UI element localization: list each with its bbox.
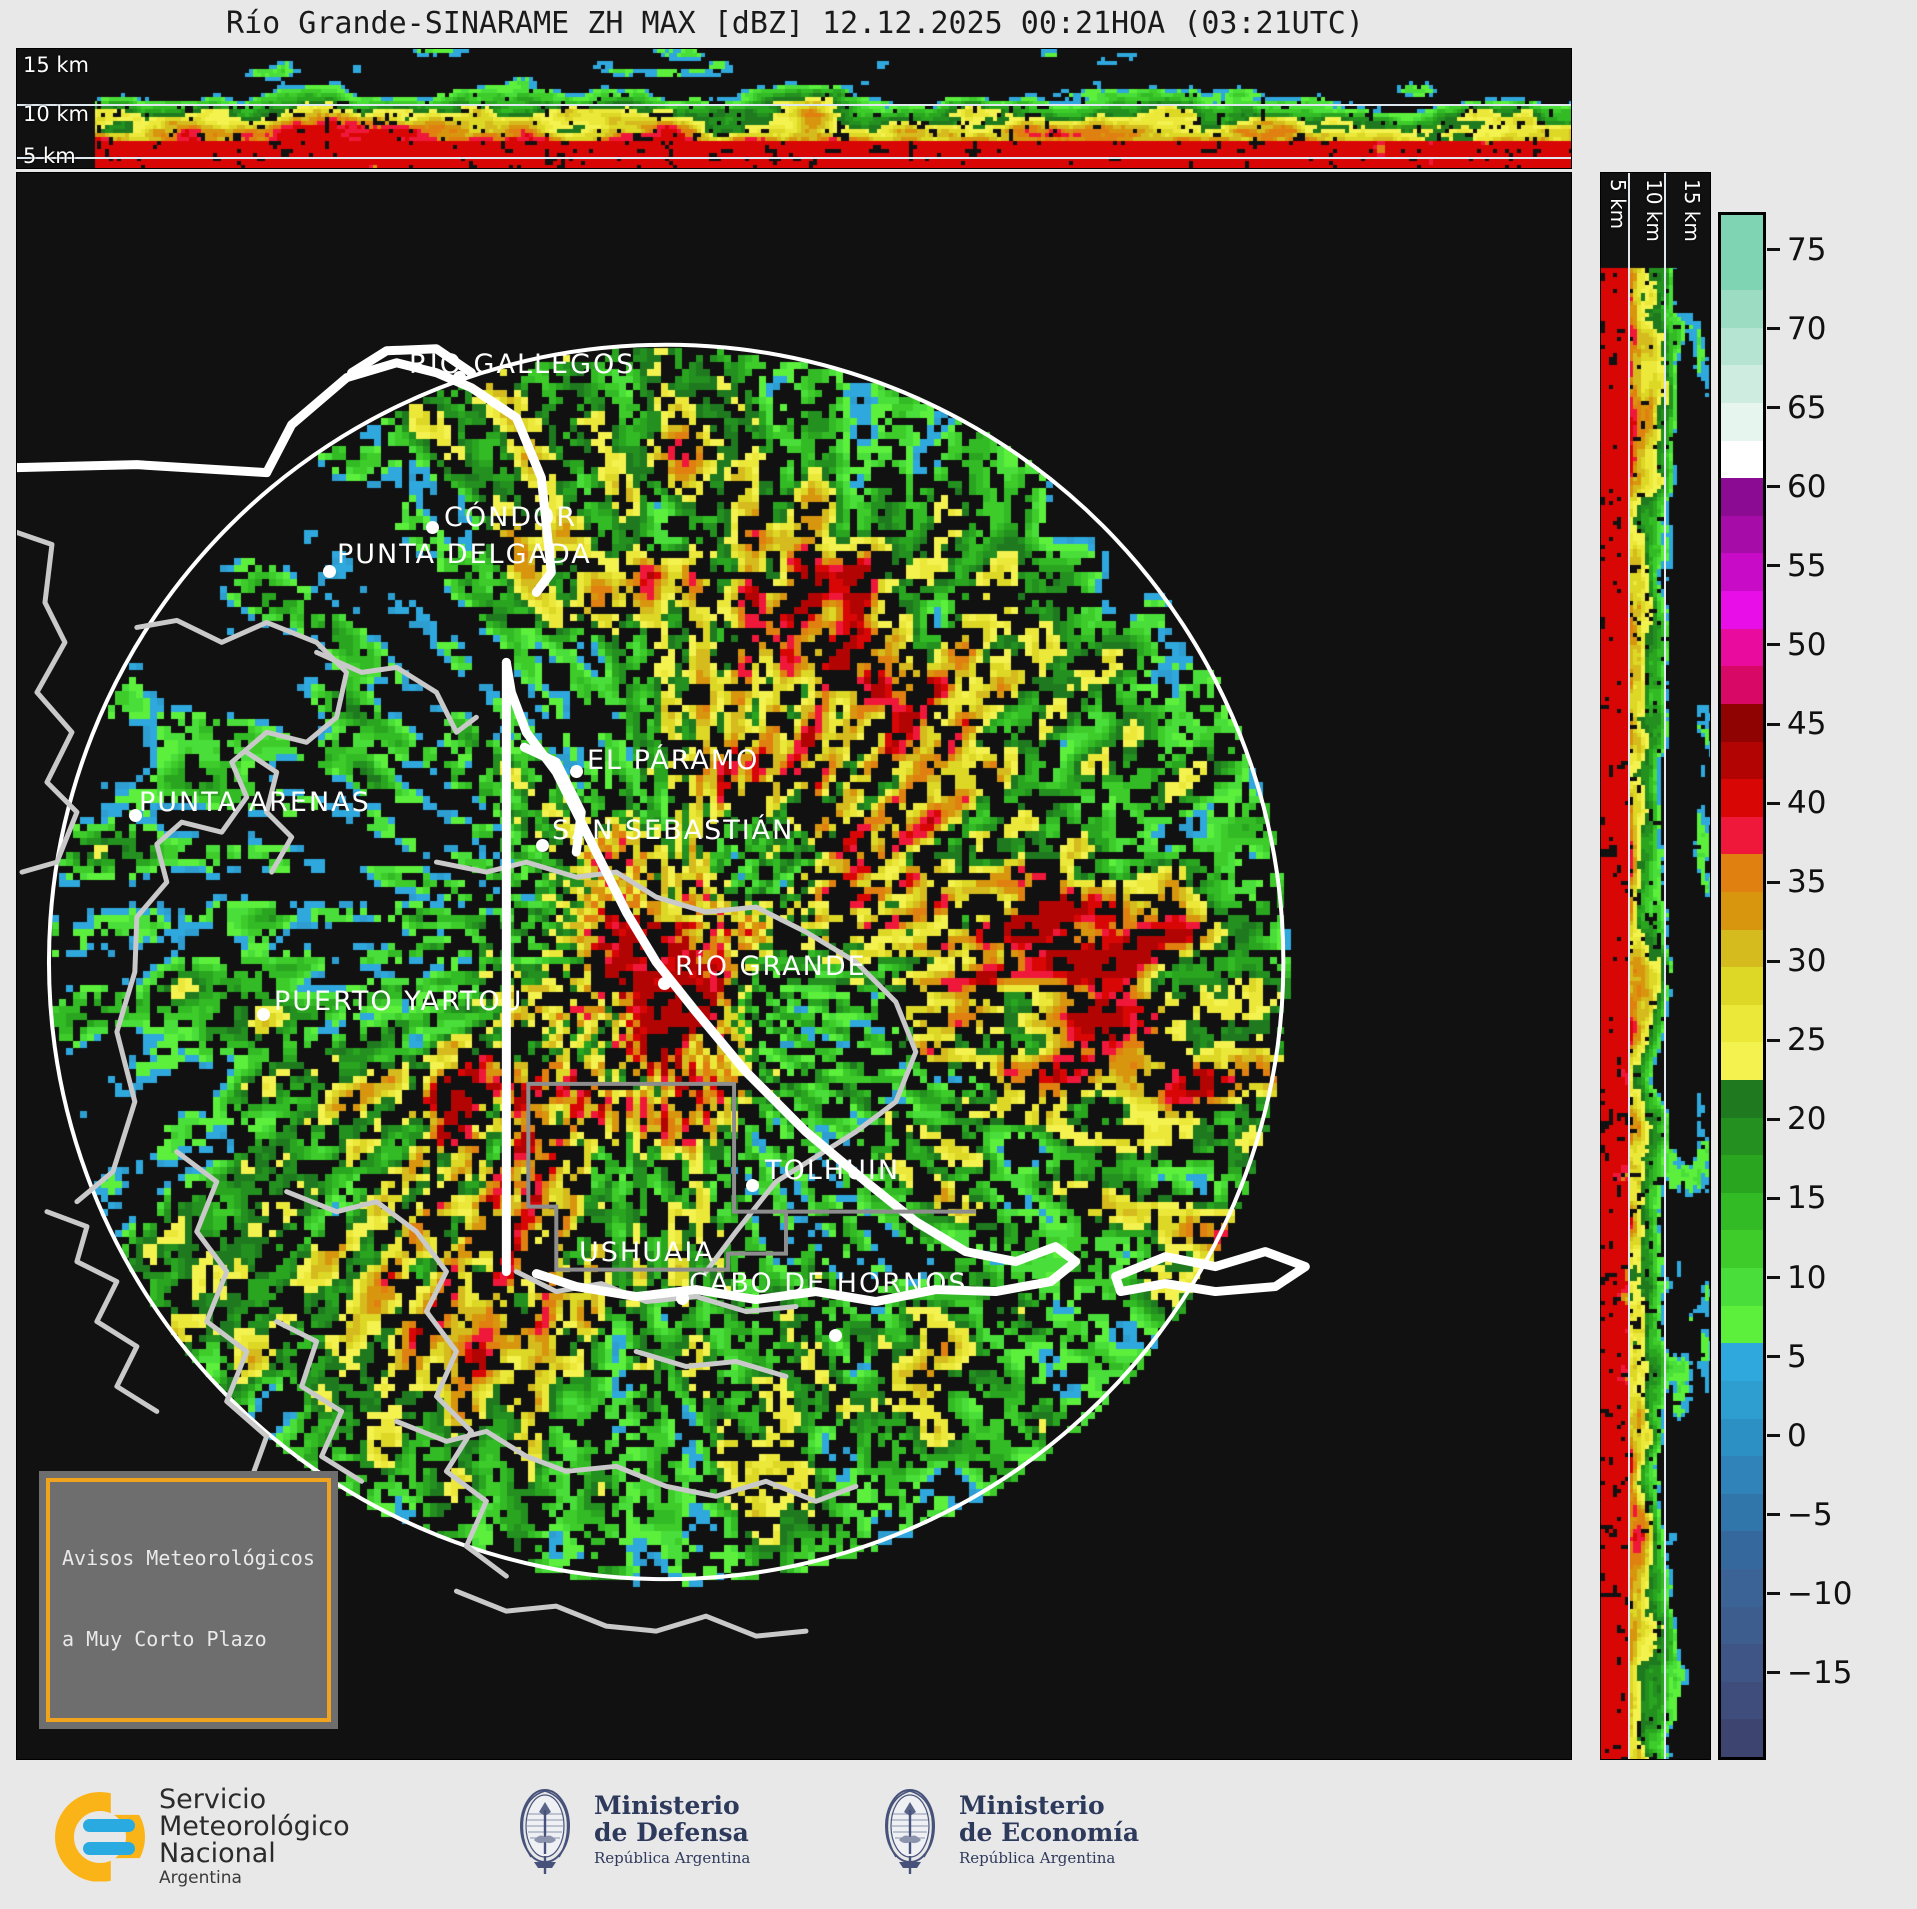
smn-wave-icon-1 [83, 1819, 135, 1832]
smn-line-3: Nacional [159, 1840, 350, 1867]
colorbar-segment [1721, 1419, 1763, 1457]
warning-legend-box[interactable]: Avisos Meteorológicos a Muy Corto Plazo [39, 1471, 338, 1729]
colorbar-tick-dash [1767, 1671, 1780, 1674]
colorbar-tick-dash [1767, 406, 1780, 409]
colorbar-segment [1721, 1456, 1763, 1494]
colorbar-tick: 40 [1767, 785, 1826, 821]
colorbar-tick: 50 [1767, 627, 1826, 663]
colorbar-tick: −10 [1767, 1576, 1852, 1612]
ministry-economia-text: Ministerio de Economía República Argenti… [959, 1792, 1139, 1866]
ministry-economia-line-1: Ministerio [959, 1792, 1139, 1819]
city-dot-puerto-yartou [257, 1008, 270, 1021]
colorbar-tick: 15 [1767, 1180, 1826, 1216]
colorbar-segment [1721, 1644, 1763, 1682]
smn-line-1: Servicio [159, 1786, 350, 1813]
colorbar-tick-label: −5 [1787, 1497, 1833, 1533]
colorbar-tick-label: 70 [1787, 311, 1826, 347]
city-dot-tolhuin [746, 1179, 759, 1192]
colorbar-segment [1721, 1531, 1763, 1569]
colorbar-segment [1721, 817, 1763, 855]
smn-line-4: Argentina [159, 1870, 350, 1887]
colorbar-tick-label: 25 [1787, 1022, 1826, 1058]
right-cross-section-panel: 5 km 10 km 15 km [1600, 172, 1711, 1760]
colorbar-tick-label: 75 [1787, 232, 1826, 268]
argentina-coat-of-arms-icon [510, 1782, 580, 1876]
colorbar-segment [1721, 441, 1763, 479]
colorbar-segment [1721, 553, 1763, 591]
colorbar-tick-dash [1767, 248, 1780, 251]
argentina-coat-of-arms-icon-2 [875, 1782, 945, 1876]
colorbar-segment [1721, 1607, 1763, 1645]
top-cross-section-canvas [17, 49, 1572, 169]
colorbar-segment [1721, 253, 1763, 291]
colorbar-segment [1721, 854, 1763, 892]
footer: Servicio Meteorológico Nacional Argentin… [0, 1772, 1917, 1909]
colorbar-tick-labels: 757065605550454035302520151050−5−10−15 [1767, 212, 1907, 1760]
colorbar-segment [1721, 1118, 1763, 1156]
smn-line-2: Meteorológico [159, 1813, 350, 1840]
colorbar-tick-dash [1767, 485, 1780, 488]
ministry-economia-logo: Ministerio de Economía República Argenti… [875, 1782, 1139, 1876]
colorbar-segment [1721, 478, 1763, 516]
colorbar-tick: 20 [1767, 1101, 1826, 1137]
top-height-label-5km: 5 km [23, 144, 76, 168]
colorbar-segment [1721, 967, 1763, 1005]
colorbar-tick-dash [1767, 1355, 1780, 1358]
colorbar-segment [1721, 1719, 1763, 1757]
colorbar-tick-dash [1767, 327, 1780, 330]
colorbar-tick-dash [1767, 1276, 1780, 1279]
colorbar-tick-dash [1767, 1039, 1780, 1042]
colorbar-tick-dash [1767, 802, 1780, 805]
right-height-label-5km: 5 km [1606, 179, 1630, 229]
colorbar-segment [1721, 1080, 1763, 1118]
colorbar-segment [1721, 1494, 1763, 1532]
colorbar-segment [1721, 1569, 1763, 1607]
colorbar-tick-label: 65 [1787, 390, 1826, 426]
colorbar-segment [1721, 516, 1763, 554]
ministry-defensa-logo: Ministerio de Defensa República Argentin… [510, 1782, 750, 1876]
colorbar-segment [1721, 403, 1763, 441]
colorbar-segment [1721, 742, 1763, 780]
colorbar-segment [1721, 1306, 1763, 1344]
colorbar-tick-label: 50 [1787, 627, 1826, 663]
colorbar-segment [1721, 591, 1763, 629]
smn-wave-icon-2 [83, 1842, 135, 1855]
colorbar-tick: 70 [1767, 311, 1826, 347]
colorbar-segment [1721, 1682, 1763, 1720]
colorbar-tick: 55 [1767, 548, 1826, 584]
colorbar-segment [1721, 930, 1763, 968]
colorbar-segment [1721, 666, 1763, 704]
colorbar-tick-label: 30 [1787, 943, 1826, 979]
colorbar-tick-label: 15 [1787, 1180, 1826, 1216]
colorbar-tick-dash [1767, 643, 1780, 646]
colorbar-tick-dash [1767, 1513, 1780, 1516]
colorbar-segment [1721, 1155, 1763, 1193]
colorbar-segment [1721, 328, 1763, 366]
colorbar-segment [1721, 1268, 1763, 1306]
city-dot-punta-arenas [129, 809, 142, 822]
colorbar-segment [1721, 365, 1763, 403]
colorbar-tick: −15 [1767, 1655, 1852, 1691]
colorbar-segment [1721, 215, 1763, 253]
top-height-label-15km: 15 km [23, 53, 89, 77]
colorbar-segment [1721, 704, 1763, 742]
colorbar-tick: 60 [1767, 469, 1826, 505]
colorbar-tick-dash [1767, 1118, 1780, 1121]
city-dot-rio-gallegos [453, 371, 466, 384]
colorbar-tick: 5 [1767, 1339, 1807, 1375]
colorbar-tick-label: 40 [1787, 785, 1826, 821]
colorbar [1718, 212, 1766, 1760]
city-dot-el-paramo [570, 765, 583, 778]
colorbar-tick-dash [1767, 1434, 1780, 1437]
city-dot-cabo-de-hornos [829, 1329, 842, 1342]
colorbar-tick-label: 0 [1787, 1418, 1807, 1454]
colorbar-tick: 25 [1767, 1022, 1826, 1058]
smn-logo-text: Servicio Meteorológico Nacional Argentin… [159, 1786, 350, 1887]
warning-legend-line2: a Muy Corto Plazo [62, 1626, 315, 1653]
colorbar-segment [1721, 1042, 1763, 1080]
ministry-defensa-line-1: Ministerio [594, 1792, 750, 1819]
colorbar-tick-label: −15 [1787, 1655, 1852, 1691]
colorbar-tick: 65 [1767, 390, 1826, 426]
top-gridline-5km [17, 157, 1571, 159]
top-height-label-10km: 10 km [23, 102, 89, 126]
colorbar-tick-label: 10 [1787, 1260, 1826, 1296]
right-height-label-10km: 10 km [1642, 179, 1666, 242]
right-gridline-5km [1628, 173, 1630, 1759]
right-height-label-15km: 15 km [1680, 179, 1704, 242]
page-title: Río Grande-SINARAME ZH MAX [dBZ] 12.12.2… [0, 6, 1590, 41]
colorbar-segment [1721, 1230, 1763, 1268]
colorbar-tick-dash [1767, 564, 1780, 567]
colorbar-tick-dash [1767, 723, 1780, 726]
colorbar-segment [1721, 1343, 1763, 1381]
city-dot-ushuaia [676, 1292, 689, 1305]
colorbar-segment [1721, 892, 1763, 930]
colorbar-tick-label: −10 [1787, 1576, 1852, 1612]
colorbar-segment [1721, 1381, 1763, 1419]
ministry-defensa-line-3: República Argentina [594, 1850, 750, 1866]
smn-ring-icon [55, 1792, 145, 1882]
smn-logo-icon [55, 1792, 145, 1882]
colorbar-tick-dash [1767, 960, 1780, 963]
ministry-economia-line-2: de Economía [959, 1819, 1139, 1846]
colorbar-gradient [1721, 215, 1763, 1757]
ministry-economia-line-3: República Argentina [959, 1850, 1139, 1866]
colorbar-tick: 30 [1767, 943, 1826, 979]
colorbar-tick-label: 45 [1787, 706, 1826, 742]
top-gridline-10km [17, 104, 1571, 106]
colorbar-segment [1721, 779, 1763, 817]
colorbar-tick: −5 [1767, 1497, 1833, 1533]
colorbar-tick-label: 55 [1787, 548, 1826, 584]
colorbar-tick-label: 20 [1787, 1101, 1826, 1137]
ministry-defensa-text: Ministerio de Defensa República Argentin… [594, 1792, 750, 1866]
colorbar-tick-dash [1767, 1197, 1780, 1200]
colorbar-tick-dash [1767, 881, 1780, 884]
colorbar-segment [1721, 1193, 1763, 1231]
colorbar-segment [1721, 290, 1763, 328]
warning-legend-inner: Avisos Meteorológicos a Muy Corto Plazo [46, 1478, 331, 1722]
colorbar-tick-label: 5 [1787, 1339, 1807, 1375]
city-dot-condor [426, 521, 439, 534]
colorbar-tick: 75 [1767, 232, 1826, 268]
colorbar-tick: 0 [1767, 1418, 1807, 1454]
city-dot-san-sebastian [536, 839, 549, 852]
smn-logo: Servicio Meteorológico Nacional Argentin… [55, 1786, 350, 1887]
colorbar-tick-label: 35 [1787, 864, 1826, 900]
colorbar-tick-label: 60 [1787, 469, 1826, 505]
top-cross-section-panel: 15 km 10 km 5 km [16, 48, 1572, 169]
city-dot-punta-delgada [323, 565, 336, 578]
colorbar-tick: 35 [1767, 864, 1826, 900]
colorbar-tick-dash [1767, 1592, 1780, 1595]
right-gridline-10km [1664, 173, 1666, 1759]
colorbar-segment [1721, 1005, 1763, 1043]
range-ring-icon [49, 345, 1283, 1579]
colorbar-tick: 45 [1767, 706, 1826, 742]
radar-map-panel[interactable]: RÍO GALLEGOS CÓNDOR PUNTA DELGADA EL PÁR… [16, 172, 1572, 1760]
warning-legend-line1: Avisos Meteorológicos [62, 1545, 315, 1572]
city-dot-rio-grande [658, 977, 671, 990]
colorbar-tick: 10 [1767, 1260, 1826, 1296]
right-cross-section-canvas [1601, 173, 1711, 1760]
colorbar-segment [1721, 629, 1763, 667]
ministry-defensa-line-2: de Defensa [594, 1819, 750, 1846]
